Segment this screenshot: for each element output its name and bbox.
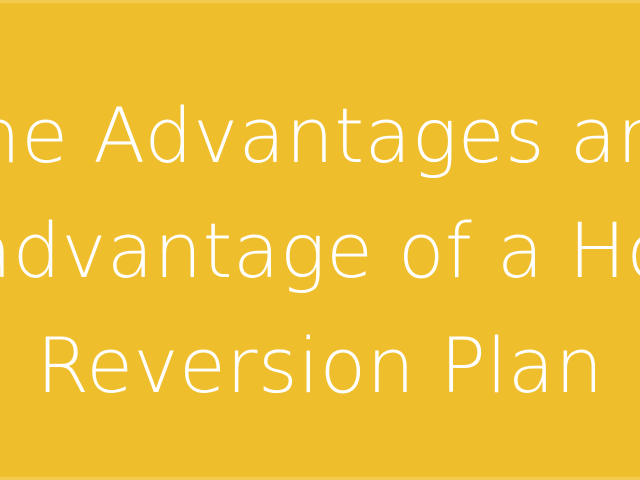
headline-line-3: Reversion Plan xyxy=(0,308,640,423)
headline-line-1: The Advantages and xyxy=(0,78,640,193)
headline-block: The Advantages and Disadvantage of a Hom… xyxy=(0,78,640,423)
top-edge-band xyxy=(0,0,640,3)
headline-line-2: Disadvantage of a Home xyxy=(0,193,640,308)
title-card: The Advantages and Disadvantage of a Hom… xyxy=(0,0,640,480)
